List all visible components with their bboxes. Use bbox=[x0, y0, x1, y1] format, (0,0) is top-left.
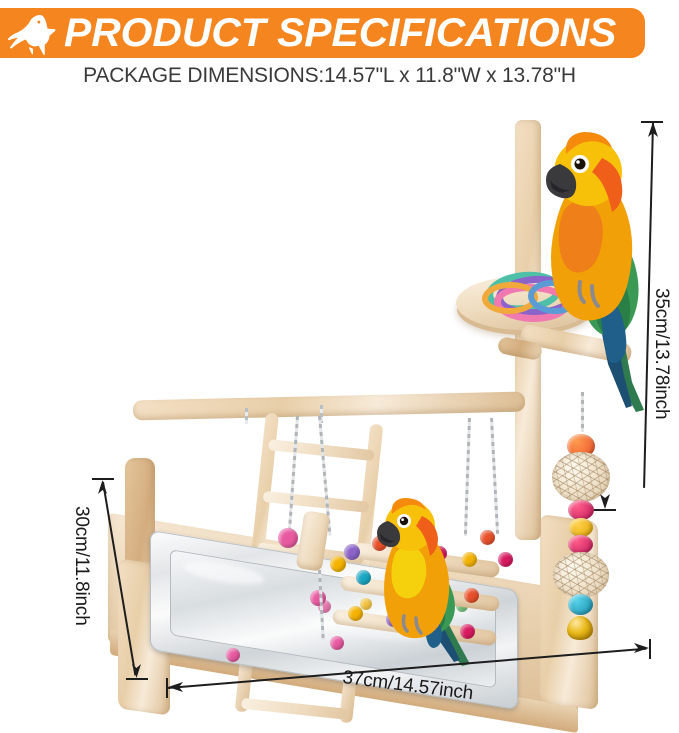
dimension-depth-cap-bottom bbox=[126, 678, 148, 680]
dimension-width-arrow-left bbox=[168, 680, 184, 694]
dimension-height-arrow-bottom bbox=[598, 493, 612, 509]
swing-bead bbox=[310, 590, 326, 606]
toy-bead-blue bbox=[568, 594, 593, 615]
toy-bell bbox=[567, 616, 593, 640]
ladder-hook-left bbox=[245, 408, 248, 424]
dimension-depth-arrow-top bbox=[96, 480, 109, 495]
bridge-bead bbox=[480, 530, 495, 545]
dimension-depth-label: 30cm/11.8inch bbox=[70, 506, 92, 626]
bird-icon bbox=[4, 10, 62, 56]
dimension-height-arrow-top bbox=[646, 122, 660, 138]
product-photo bbox=[0, 100, 679, 711]
toy-bead-pink bbox=[568, 500, 594, 520]
right-swing-chain bbox=[490, 418, 499, 534]
bridge-bead bbox=[348, 606, 363, 621]
dimension-height-cap-bottom bbox=[594, 509, 616, 511]
dimension-width-arrow-right bbox=[633, 641, 649, 655]
rattan-ball bbox=[553, 552, 609, 598]
banner-title: PRODUCT SPECIFICATIONS bbox=[64, 13, 616, 53]
product-specification-image: PRODUCT SPECIFICATIONS PACKAGE DIMENSION… bbox=[0, 0, 679, 711]
dimension-depth-arrow-bottom bbox=[130, 663, 143, 678]
package-dimensions-text: PACKAGE DIMENSIONS:14.57"L x 11.8"W x 13… bbox=[0, 64, 659, 88]
tray-bead-reflection bbox=[360, 598, 372, 610]
ladder-rung bbox=[263, 491, 370, 513]
ladder-rung bbox=[241, 698, 348, 720]
dimension-height-label: 35cm/13.78inch bbox=[650, 288, 672, 419]
swing-bead bbox=[278, 528, 298, 548]
top-rail bbox=[133, 392, 525, 421]
dimension-width-cap-right bbox=[649, 639, 651, 659]
sun-conure-upper bbox=[540, 114, 658, 414]
sun-conure-lower bbox=[374, 498, 486, 668]
swing-bead bbox=[330, 636, 344, 650]
bridge-bead bbox=[356, 570, 371, 585]
swing-bead bbox=[330, 556, 346, 572]
header-banner: PRODUCT SPECIFICATIONS bbox=[0, 8, 645, 58]
tray-bead-reflection bbox=[226, 648, 240, 662]
bridge-bead bbox=[498, 552, 513, 567]
swing-bead bbox=[344, 544, 360, 560]
